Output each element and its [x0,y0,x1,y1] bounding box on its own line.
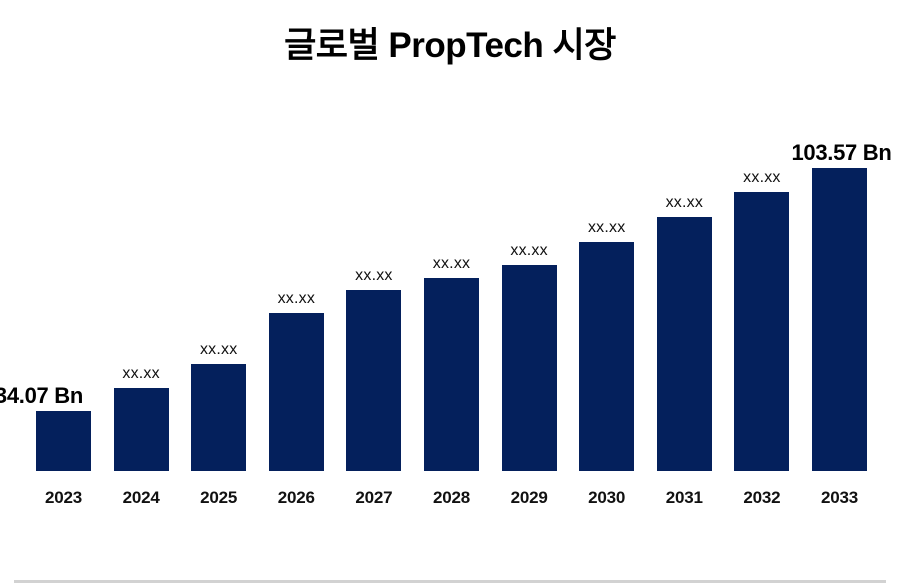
bar-value-label: xx.xx [666,194,703,212]
category-label-2023: 2023 [36,485,91,511]
bar-value-label: xx.xx [433,255,470,273]
bar-group[interactable]: 34.07 Bn [36,110,91,471]
bar-group[interactable]: xx.xx [734,110,789,471]
bar[interactable] [36,411,91,471]
bar-group[interactable]: xx.xx [579,110,634,471]
bar[interactable] [346,290,401,471]
category-label-2029: 2029 [502,485,557,511]
bar-group[interactable]: xx.xx [191,110,246,471]
category-label-2025: 2025 [191,485,246,511]
bar-value-label: 103.57 Bn [791,144,891,162]
bar-value-label: 34.07 Bn [0,387,83,405]
bar-value-label: xx.xx [200,341,237,359]
bar-value-label: xx.xx [278,290,315,308]
category-label-2030: 2030 [579,485,634,511]
bar[interactable] [191,364,246,471]
category-label-2031: 2031 [657,485,712,511]
bar[interactable] [114,388,169,471]
category-label-2027: 2027 [346,485,401,511]
bar-group[interactable]: xx.xx [657,110,712,471]
category-label-2024: 2024 [114,485,169,511]
bar-group[interactable]: 103.57 Bn [812,110,867,471]
bar-value-label: xx.xx [122,365,159,383]
bar[interactable] [502,265,557,471]
bar-value-label: xx.xx [510,242,547,260]
bar-value-label: xx.xx [355,267,392,285]
plot-area: 34.07 Bnxx.xxxx.xxxx.xxxx.xxxx.xxxx.xxxx… [0,110,900,471]
category-label-2026: 2026 [269,485,324,511]
bar-value-label: xx.xx [743,169,780,187]
category-label-2033: 2033 [812,485,867,511]
bar[interactable] [424,278,479,471]
category-axis: 2023202420252026202720282029203020312032… [0,485,900,517]
bar-group[interactable]: xx.xx [269,110,324,471]
bar-value-label: xx.xx [588,219,625,237]
bar-group[interactable]: xx.xx [346,110,401,471]
bar[interactable] [812,168,867,471]
bar-chart: 글로벌 PropTech 시장 34.07 Bnxx.xxxx.xxxx.xxx… [0,0,900,525]
category-label-2032: 2032 [734,485,789,511]
bar[interactable] [657,217,712,471]
category-label-2028: 2028 [424,485,479,511]
bar[interactable] [734,192,789,471]
bar-group[interactable]: xx.xx [114,110,169,471]
bar[interactable] [579,242,634,471]
chart-title: 글로벌 PropTech 시장 [0,22,900,70]
bar-group[interactable]: xx.xx [424,110,479,471]
bar[interactable] [269,313,324,471]
bar-group[interactable]: xx.xx [502,110,557,471]
